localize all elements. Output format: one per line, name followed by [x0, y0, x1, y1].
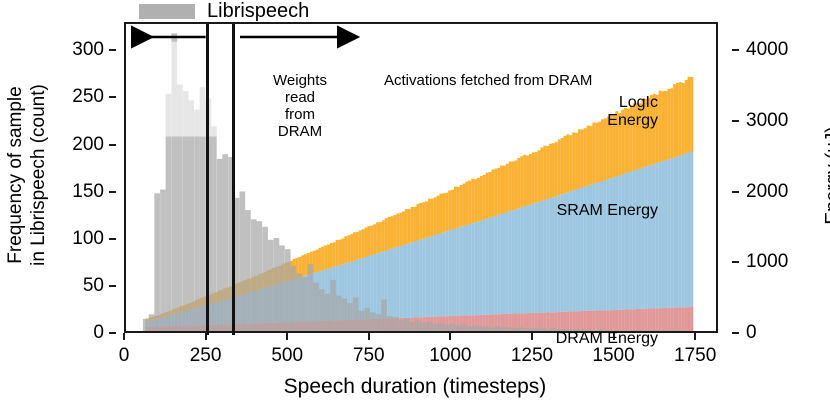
x-axis-tick-label: 1000	[429, 346, 471, 365]
x-axis-tick-mark	[205, 333, 207, 340]
x-axis-tick-label: 1750	[674, 346, 716, 365]
x-axis-tick-label: 1250	[511, 346, 553, 365]
x-axis-tick-label: 1500	[592, 346, 634, 365]
x-axis-tick-mark	[531, 333, 533, 340]
x-axis-tick-label: 250	[190, 346, 222, 365]
x-axis-tick-mark	[449, 333, 451, 340]
x-axis-tick-label: 750	[353, 346, 385, 365]
x-axis-title: Speech duration (timesteps)	[0, 376, 830, 397]
chart-root: Librispeech Frequency of sample in Libri…	[0, 0, 830, 415]
x-axis-tick-mark	[613, 333, 615, 340]
x-axis-tick-mark	[286, 333, 288, 340]
x-axis-tick-mark	[368, 333, 370, 340]
x-axis-ticks: 02505007501000125015001750	[0, 0, 830, 415]
x-axis-tick-mark	[694, 333, 696, 340]
x-axis-tick-mark	[123, 333, 125, 340]
x-axis-tick-label: 0	[119, 346, 130, 365]
x-axis-tick-label: 500	[271, 346, 303, 365]
